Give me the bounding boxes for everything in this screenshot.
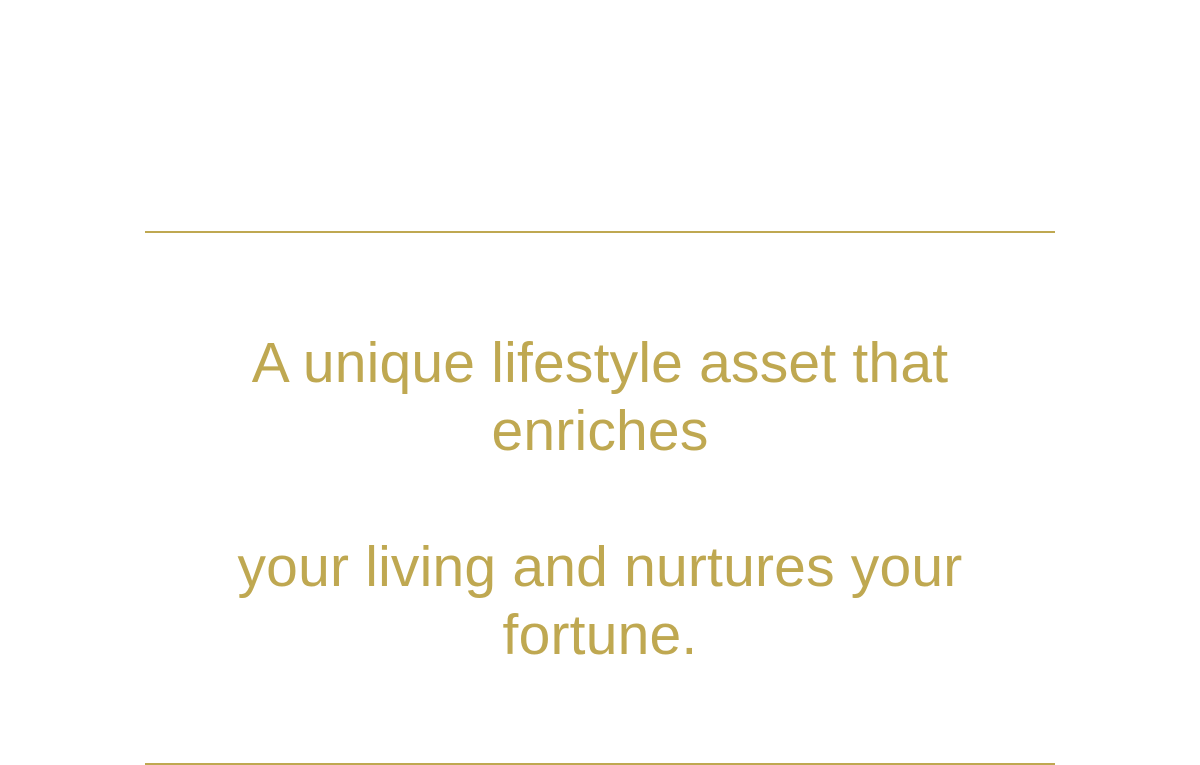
pull-quote-line-2: your living and nurtures your fortune. xyxy=(145,533,1055,669)
pull-quote-line-1: A unique lifestyle asset that enriches xyxy=(145,329,1055,465)
slide-canvas: A unique lifestyle asset that enriches y… xyxy=(0,0,1200,651)
pull-quote-block: A unique lifestyle asset that enriches y… xyxy=(145,231,1055,765)
pull-quote-text: A unique lifestyle asset that enriches y… xyxy=(145,233,1055,763)
